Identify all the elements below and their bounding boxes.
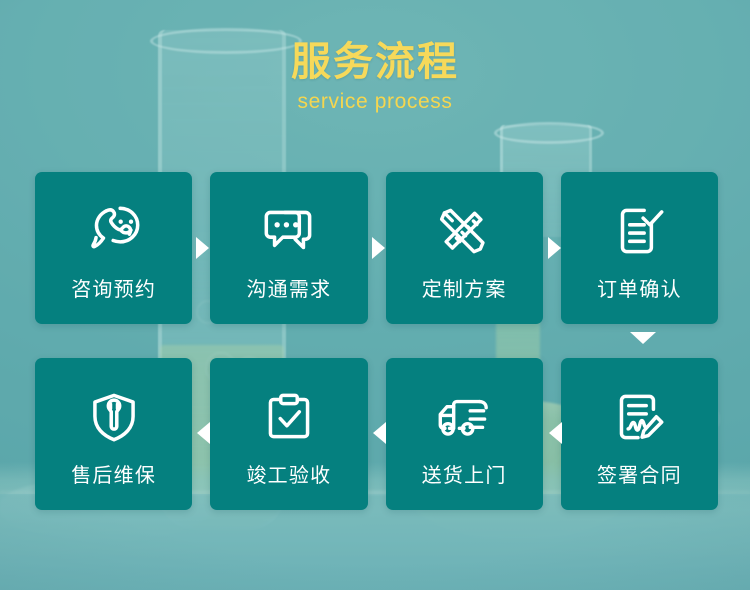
page-title: 服务流程 <box>0 42 750 83</box>
process-card-contract[interactable]: 签署合同 <box>561 358 718 510</box>
arrow-row2-2-1 <box>197 422 210 444</box>
arrow-row1-2-3 <box>372 237 385 259</box>
delivery-truck-icon <box>431 384 497 450</box>
process-card-delivery[interactable]: 送货上门 <box>386 358 543 510</box>
shield-wrench-icon <box>81 384 147 450</box>
chat-bubbles-icon <box>256 198 322 264</box>
process-card-label: 签署合同 <box>597 466 682 486</box>
process-card-after-sales[interactable]: 售后维保 <box>35 358 192 510</box>
page-subtitle: service process <box>0 90 750 114</box>
arrow-row1-to-row2 <box>630 332 656 344</box>
arrow-row2-3-2 <box>373 422 386 444</box>
arrow-row2-4-3 <box>549 422 562 444</box>
process-card-label: 咨询预约 <box>71 280 156 300</box>
process-card-label: 竣工验收 <box>246 466 331 486</box>
process-grid: 咨询预约 沟通需求 <box>35 172 718 510</box>
arrow-row1-3-4 <box>548 237 561 259</box>
process-card-consultation[interactable]: 咨询预约 <box>35 172 192 324</box>
process-card-label: 订单确认 <box>597 280 682 300</box>
process-card-acceptance[interactable]: 竣工验收 <box>210 358 367 510</box>
clipboard-check-icon <box>256 384 322 450</box>
phone-smile-icon <box>81 198 147 264</box>
process-card-label: 送货上门 <box>422 466 507 486</box>
arrow-row1-1-2 <box>196 237 209 259</box>
process-card-custom-plan[interactable]: 定制方案 <box>386 172 543 324</box>
pencil-ruler-icon <box>431 198 497 264</box>
process-card-order-confirm[interactable]: 订单确认 <box>561 172 718 324</box>
document-check-icon <box>606 198 672 264</box>
contract-sign-icon <box>606 384 672 450</box>
process-card-label: 定制方案 <box>422 280 507 300</box>
process-card-communication[interactable]: 沟通需求 <box>210 172 367 324</box>
banner-header: 服务流程 service process <box>0 42 750 114</box>
process-card-label: 售后维保 <box>71 466 156 486</box>
service-process-banner: 服务流程 service process 咨询预约 <box>0 0 750 590</box>
process-card-label: 沟通需求 <box>246 280 331 300</box>
